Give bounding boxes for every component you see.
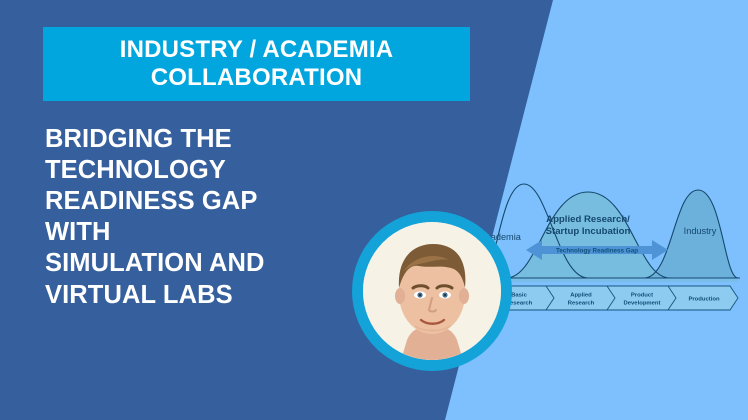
header-banner-line-1: INDUSTRY / ACADEMIA bbox=[120, 36, 394, 64]
avatar-photo-frame bbox=[363, 222, 501, 360]
page-title-line-5: SIMULATION AND bbox=[45, 248, 345, 279]
process-step-4-line-1: Production bbox=[688, 297, 719, 303]
diagram-baseline-band bbox=[482, 278, 738, 282]
page-title-line-6: VIRTUAL LABS bbox=[45, 280, 345, 311]
curve-label-industry: Industry bbox=[684, 226, 717, 236]
page-title-line-1: BRIDGING THE bbox=[45, 124, 345, 155]
curve-label-applied-research-line-2: Startup Incubation bbox=[546, 226, 631, 237]
curve-label-applied-research-line-1: Applied Research/ bbox=[546, 214, 630, 225]
slide-canvas: INDUSTRY / ACADEMIA COLLABORATION BRIDGI… bbox=[0, 0, 748, 420]
process-step-3-line-1: Product bbox=[631, 293, 653, 299]
avatar-photo bbox=[363, 222, 501, 360]
page-title-line-2: TECHNOLOGY bbox=[45, 155, 345, 186]
header-banner: INDUSTRY / ACADEMIA COLLABORATION bbox=[43, 27, 470, 101]
process-step-1-line-1: Basic bbox=[511, 293, 527, 299]
page-title: BRIDGING THE TECHNOLOGY READINESS GAP WI… bbox=[45, 124, 345, 311]
process-chevron-bar: Basic Research Applied Research Product … bbox=[484, 286, 738, 310]
technology-readiness-gap-arrow-label: Technology Readiness Gap bbox=[556, 248, 638, 255]
header-banner-line-2: COLLABORATION bbox=[120, 64, 394, 92]
avatar bbox=[352, 211, 512, 371]
process-step-2-line-2: Research bbox=[568, 301, 595, 307]
page-title-line-4: WITH bbox=[45, 217, 345, 248]
header-banner-text: INDUSTRY / ACADEMIA COLLABORATION bbox=[120, 36, 394, 92]
page-title-line-3: READINESS GAP bbox=[45, 186, 345, 217]
process-step-2-line-1: Applied bbox=[570, 293, 592, 299]
process-step-3-line-2: Development bbox=[624, 301, 661, 307]
